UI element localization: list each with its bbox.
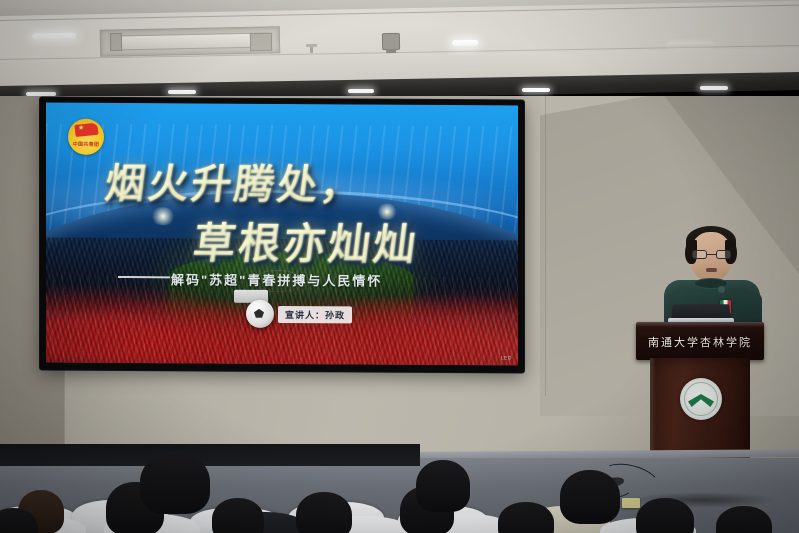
football-icon — [246, 300, 274, 328]
wall-seam — [545, 96, 546, 396]
display-brand-mark: LED — [501, 355, 512, 361]
projection-screen[interactable]: ★ 中国共青团 烟火升腾处， 草根亦灿灿 解码"苏超"青春拼搏与人民情怀 宣讲人… — [40, 98, 524, 373]
audience-back-band — [0, 444, 420, 466]
vent-side-grille — [250, 33, 272, 51]
audience-head — [140, 452, 210, 514]
lectern-name-plate: 南通大学杏林学院 — [636, 334, 764, 350]
slide-title-line-1: 烟火升腾处， — [102, 151, 367, 211]
glasses-icon — [692, 250, 731, 259]
ceiling-light — [32, 33, 76, 40]
lectern-top-highlight — [636, 322, 764, 327]
emblem-caption: 中国共青团 — [68, 141, 104, 148]
shirt-badge-small — [718, 286, 725, 293]
audience-head — [636, 498, 694, 533]
communist-youth-league-emblem: ★ 中国共青团 — [68, 119, 104, 155]
slide-canvas: ★ 中国共青团 烟火升腾处， 草根亦灿灿 解码"苏超"青春拼搏与人民情怀 宣讲人… — [46, 103, 518, 366]
slide-subtitle: 解码"苏超"青春拼搏与人民情怀 — [171, 269, 382, 289]
glasses-bridge — [707, 254, 716, 255]
emblem-star: ★ — [78, 125, 84, 132]
lecture-hall-scene: ★ 中国共青团 烟火升腾处， 草根亦灿灿 解码"苏超"青春拼搏与人民情怀 宣讲人… — [0, 0, 799, 533]
soffit-light — [700, 86, 728, 90]
audience-head — [296, 492, 352, 533]
soffit-light — [168, 90, 196, 94]
vent-slat — [112, 32, 269, 51]
fire-sprinkler-icon — [310, 44, 313, 53]
ceiling-projector — [382, 33, 400, 50]
audience-head — [212, 498, 264, 533]
subtitle-rule — [118, 276, 170, 278]
ceiling-light — [452, 40, 478, 46]
vent-side-grille — [110, 33, 122, 51]
university-crest-icon — [680, 378, 722, 420]
audience-head — [498, 502, 554, 533]
soffit-light — [522, 88, 550, 92]
presenter-mouth — [706, 268, 717, 272]
soffit-light — [348, 89, 374, 93]
audience-head — [560, 470, 620, 524]
glasses-lens-left — [692, 250, 707, 259]
audience-head — [416, 460, 470, 512]
floor-marker-object — [622, 498, 640, 508]
ceiling-light — [668, 42, 712, 48]
stadium-floodlight — [150, 207, 176, 225]
slide-title-line-2: 草根亦灿灿 — [190, 209, 423, 271]
glasses-lens-right — [716, 250, 731, 259]
slide-speaker-label: 宣讲人：孙政 — [278, 306, 352, 323]
